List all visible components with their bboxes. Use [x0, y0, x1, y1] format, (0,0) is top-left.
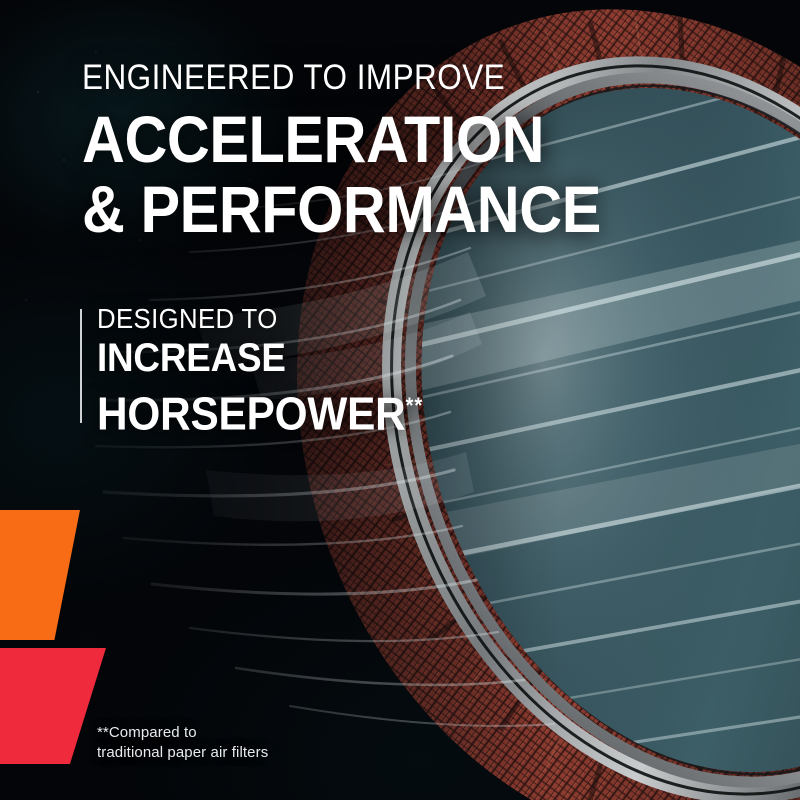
subhead-line-2-text: HORSEPOWER: [97, 387, 406, 439]
footnote-marker: **: [406, 393, 424, 418]
headline-block: ENGINEERED TO IMPROVE ACCELERATION & PER…: [82, 58, 782, 242]
subhead-line-2: HORSEPOWER**: [97, 382, 612, 437]
subhead-block: DESIGNED TO INCREASE HORSEPOWER**: [97, 303, 657, 437]
headline-kicker: ENGINEERED TO IMPROVE: [82, 58, 712, 98]
footnote-line-1: **Compared to: [97, 723, 268, 743]
vertical-accent-rule: [80, 309, 82, 423]
footnote-line-2: traditional paper air filters: [97, 743, 268, 763]
subhead-kicker: DESIGNED TO: [97, 303, 612, 335]
promo-banner: ENGINEERED TO IMPROVE ACCELERATION & PER…: [0, 0, 800, 800]
footnote-block: **Compared to traditional paper air filt…: [97, 723, 268, 763]
headline-line-2: & PERFORMANCE: [82, 176, 712, 242]
headline-line-1: ACCELERATION: [82, 106, 712, 172]
subhead-line-1: INCREASE: [97, 337, 612, 379]
